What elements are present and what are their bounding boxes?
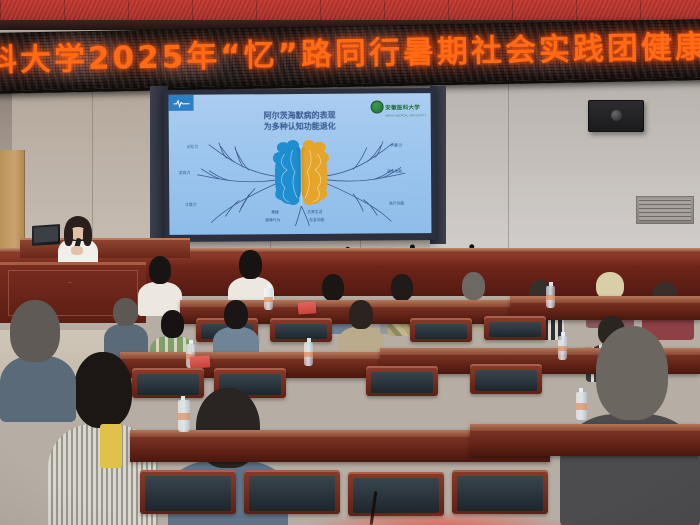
floor-red-glow — [300, 511, 580, 525]
brain-label-bottom-2: 精神行为 — [265, 218, 280, 223]
brain-label-bottom-1: 情绪 — [271, 210, 279, 215]
brain-label-left-1: 记忆力 — [187, 145, 198, 150]
banner-text: 科大学2025年“忆”路同行暑期社会实践团健康科普宣讲 — [0, 25, 700, 83]
brain-label-bottom-3: 日常生活 — [307, 210, 322, 215]
audience-chair — [452, 470, 548, 514]
audience-chair — [484, 316, 546, 340]
attendee-left-edge — [0, 300, 76, 420]
brain-label-right-1: 判断力 — [391, 143, 402, 148]
presenter-hair-left — [64, 224, 73, 246]
red-brochure — [298, 301, 317, 314]
water-bottle — [546, 286, 555, 308]
brain-label-left-2: 定向力 — [179, 171, 190, 176]
audience-chair — [470, 364, 542, 394]
wall-vent-grille — [636, 196, 694, 224]
presenter-hand — [71, 246, 83, 255]
audience-chair — [140, 470, 236, 514]
red-brochure — [190, 355, 211, 368]
attendee-blue-polo — [213, 300, 259, 358]
lanyard — [100, 424, 122, 468]
audience-chair — [244, 470, 340, 514]
water-bottle — [304, 342, 313, 366]
water-bottle — [178, 400, 190, 432]
attendee-grey-head — [104, 298, 148, 356]
water-bottle — [576, 392, 587, 420]
presenter — [52, 216, 104, 268]
brain-label-right-3: 执行功能 — [389, 201, 404, 206]
water-bottle — [264, 288, 273, 310]
audience-chair — [270, 318, 332, 342]
brain-label-right-2: 语言功能 — [387, 169, 402, 174]
brain-diagram: 记忆力 定向力 计算力 判断力 语言功能 执行功能 情绪 精神行为 日常生活 社… — [169, 129, 432, 235]
ecg-heartbeat-icon — [169, 95, 194, 111]
projection-screen: 安徽医科大学 ANHUI MEDICAL UNIVERSITY 阿尔茨海默病的表… — [163, 88, 436, 242]
conference-hall-photo: 科大学2025年“忆”路同行暑期社会实践团健康科普宣讲 安徽医科大学 ANHUI… — [0, 0, 700, 525]
audience-chair — [410, 318, 472, 342]
brain-label-left-3: 计算力 — [185, 203, 196, 208]
audience-chair — [366, 366, 438, 396]
audience-chair — [348, 472, 444, 516]
presenter-hair-right — [83, 224, 92, 246]
wall-speaker-icon — [588, 100, 644, 132]
audience-desk-row3b — [470, 424, 700, 456]
brain-label-bottom-4: 社会功能 — [309, 218, 324, 223]
presentation-slide: 安徽医科大学 ANHUI MEDICAL UNIVERSITY 阿尔茨海默病的表… — [169, 93, 432, 235]
attendee-tan — [338, 300, 384, 358]
